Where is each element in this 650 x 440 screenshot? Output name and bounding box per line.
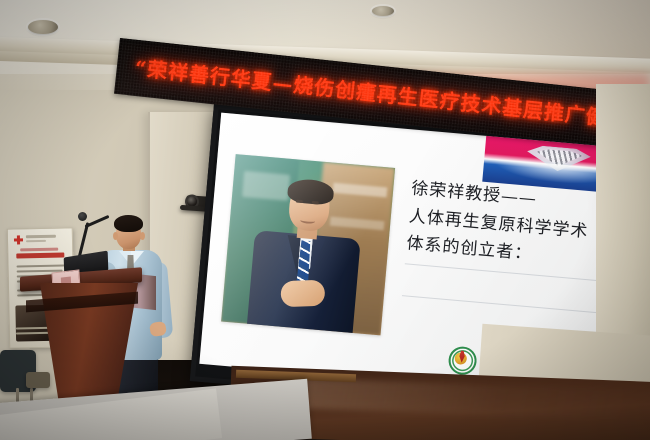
poster-brand-subline [26,240,46,242]
poster-brand-line [26,235,56,239]
slide-text-block: 徐荣祥教授—— 人体再生复原科学学术 体系的创立者： [405,176,627,277]
portrait-clasped-hands [280,280,325,308]
slide-portrait-photo [221,154,395,335]
slide-divider [402,295,615,315]
photo-background-sign [242,171,290,201]
poster-body-line [17,265,65,268]
red-cross-icon [14,235,23,244]
portrait-eye [312,201,319,204]
poster-subtitle-bar [20,248,58,252]
microphone-head-icon [78,212,87,221]
ceiling-speaker-icon [28,20,58,34]
society-emblem-icon [447,345,477,375]
conference-hall-scene: 徐荣祥教授—— 人体再生复原科学学术 体系的创立者： 中国中西医结合学会 烧伤专… [0,0,650,440]
presenter-ear [113,232,118,240]
presenter-hair [114,215,143,232]
portrait-eye [296,200,303,203]
presenter-ear [140,232,145,240]
poster-title-bar [16,253,64,259]
ceiling-speaker-icon [372,6,394,16]
chair-seat [26,372,50,388]
